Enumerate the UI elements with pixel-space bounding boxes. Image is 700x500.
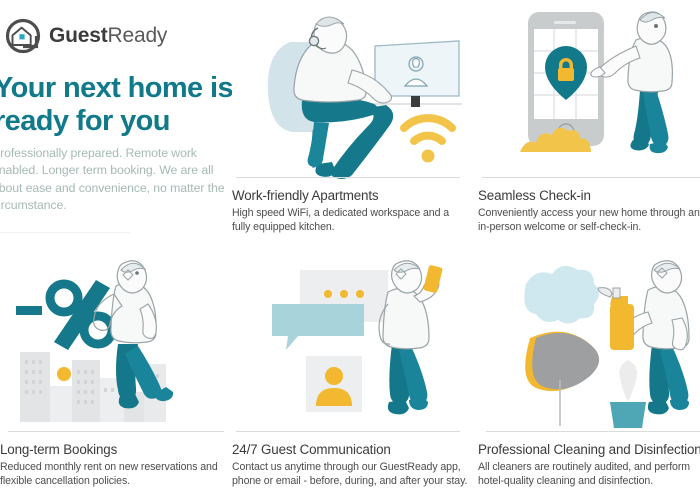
feature-title: Professional Cleaning and Disinfection <box>478 442 700 457</box>
feature-card-seamless-check-in[interactable]: Seamless Check-in Conveniently access yo… <box>478 0 700 234</box>
feature-title: Work-friendly Apartments <box>232 188 468 203</box>
illustration-smartphone-map-pin-lock-with-person <box>478 0 700 186</box>
feature-description: Conveniently access your new home throug… <box>478 207 700 234</box>
illustration-person-at-desk-with-monitor-and-wifi <box>232 0 468 186</box>
feature-description: High speed WiFi, a dedicated workspace a… <box>232 207 468 234</box>
feature-title: Seamless Check-in <box>478 188 700 203</box>
ground-line <box>482 177 700 178</box>
feature-title: Long-term Bookings <box>0 442 228 457</box>
feature-description: Reduced monthly rent on new reservations… <box>0 461 228 488</box>
illustration-person-spraying-disinfectant-chair-plant <box>478 254 700 440</box>
illustration-speech-bubbles-avatar-person-with-phone <box>232 254 468 440</box>
feature-description: All cleaners are routinely audited, and … <box>478 461 700 488</box>
feature-card-long-term-bookings[interactable]: Long-term Bookings Reduced monthly rent … <box>0 254 228 488</box>
feature-title: 24/7 Guest Communication <box>232 442 468 457</box>
feature-description: Contact us anytime through our GuestRead… <box>232 461 468 488</box>
illustration-minus-percent-city-skyline-with-person <box>0 254 228 440</box>
landing-page: GuestReady Your next home is ready for y… <box>0 0 700 500</box>
feature-card-work-friendly-apartments[interactable]: Work-friendly Apartments High speed WiFi… <box>232 0 468 234</box>
feature-card-professional-cleaning[interactable]: Professional Cleaning and Disinfection A… <box>478 254 700 488</box>
feature-card-guest-communication[interactable]: 24/7 Guest Communication Contact us anyt… <box>232 254 468 488</box>
ground-line <box>236 177 460 178</box>
ground-line <box>486 431 700 432</box>
ground-line <box>236 431 460 432</box>
ground-line <box>8 431 224 432</box>
features-grid: Work-friendly Apartments High speed WiFi… <box>0 0 700 500</box>
